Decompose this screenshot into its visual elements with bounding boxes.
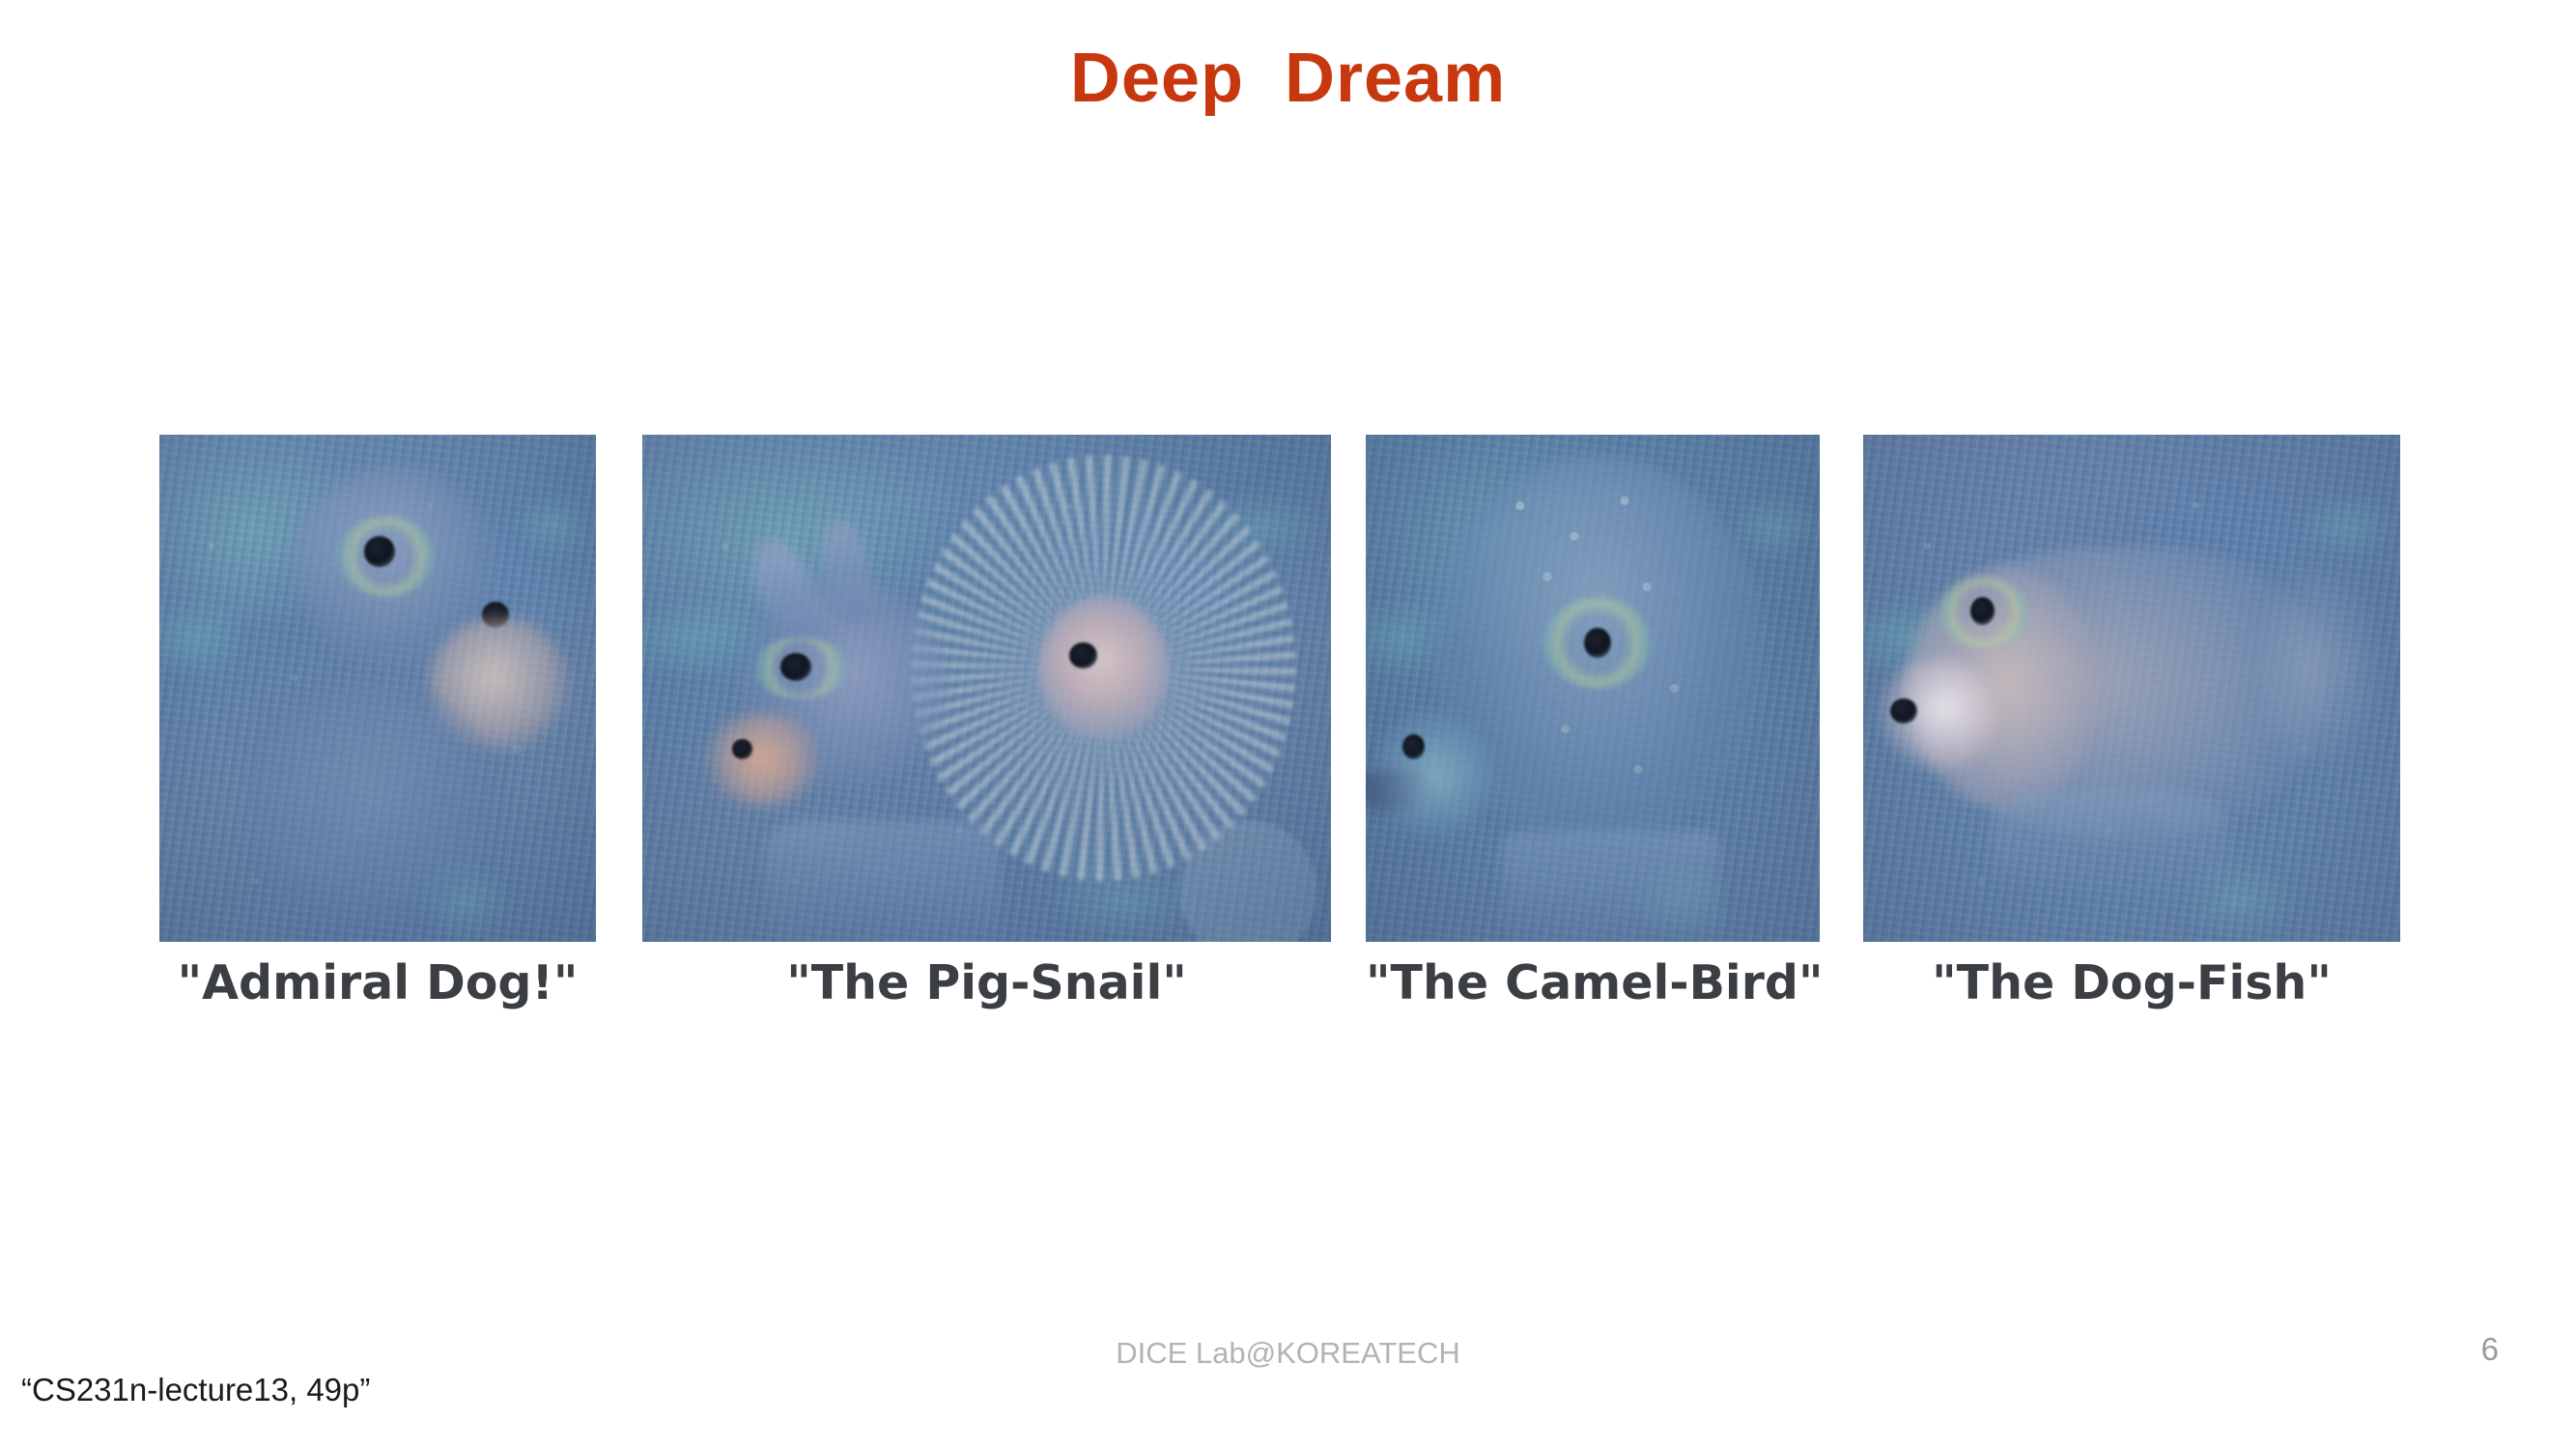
figure-item-dog-fish: "The Dog-Fish" <box>1863 435 2400 956</box>
figure-caption: "The Pig-Snail" <box>642 955 1331 1010</box>
image-vignette <box>642 435 1331 942</box>
figure-item-pig-snail: "The Pig-Snail" <box>642 435 1331 956</box>
image-vignette <box>159 435 596 942</box>
figure-caption: "The Dog-Fish" <box>1863 955 2400 1010</box>
figure-item-admiral-dog: "Admiral Dog!" <box>159 435 596 956</box>
figure-caption: "Admiral Dog!" <box>159 955 596 1010</box>
image-vignette <box>1366 435 1820 942</box>
deepdream-image-camel-bird <box>1366 435 1820 942</box>
deepdream-image-dog-fish <box>1863 435 2400 942</box>
source-citation: “CS231n-lecture13, 49p” <box>21 1372 370 1408</box>
deepdream-image-pig-snail <box>642 435 1331 942</box>
image-vignette <box>1863 435 2400 942</box>
figure-item-camel-bird: "The Camel-Bird" <box>1366 435 1820 956</box>
page-title: Deep Dream <box>0 39 2576 118</box>
deepdream-figure-strip: "Admiral Dog!" <box>159 435 2405 956</box>
footer-lab-label: DICE Lab@KOREATECH <box>0 1336 2576 1371</box>
page-number: 6 <box>2481 1331 2499 1368</box>
deepdream-image-admiral-dog <box>159 435 596 942</box>
figure-caption: "The Camel-Bird" <box>1366 955 1820 1010</box>
